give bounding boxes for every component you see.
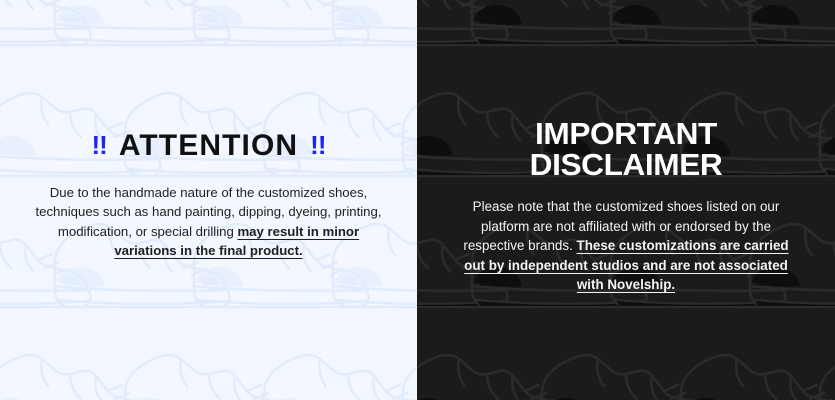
- attention-content: !! ATTENTION !! Due to the handmade natu…: [0, 129, 417, 261]
- attention-heading-word: ATTENTION: [119, 129, 298, 163]
- attention-panel: !! ATTENTION !! Due to the handmade natu…: [0, 0, 417, 400]
- disclaimer-body: Please note that the customized shoes li…: [461, 197, 791, 295]
- disclaimer-content: IMPORTANT DISCLAIMER Please note that th…: [417, 118, 835, 295]
- disclaimer-panel: IMPORTANT DISCLAIMER Please note that th…: [417, 0, 835, 400]
- customization-notice-banner: !! ATTENTION !! Due to the handmade natu…: [0, 0, 835, 400]
- attention-body: Due to the handmade nature of the custom…: [34, 183, 383, 261]
- attention-heading: !! ATTENTION !!: [34, 129, 383, 163]
- disclaimer-heading-line-2: DISCLAIMER: [458, 149, 795, 180]
- attention-bangs-right: !!: [310, 128, 325, 162]
- disclaimer-heading-line-1: IMPORTANT: [458, 118, 795, 149]
- attention-bangs-left: !!: [92, 128, 107, 162]
- disclaimer-heading: IMPORTANT DISCLAIMER: [461, 118, 791, 180]
